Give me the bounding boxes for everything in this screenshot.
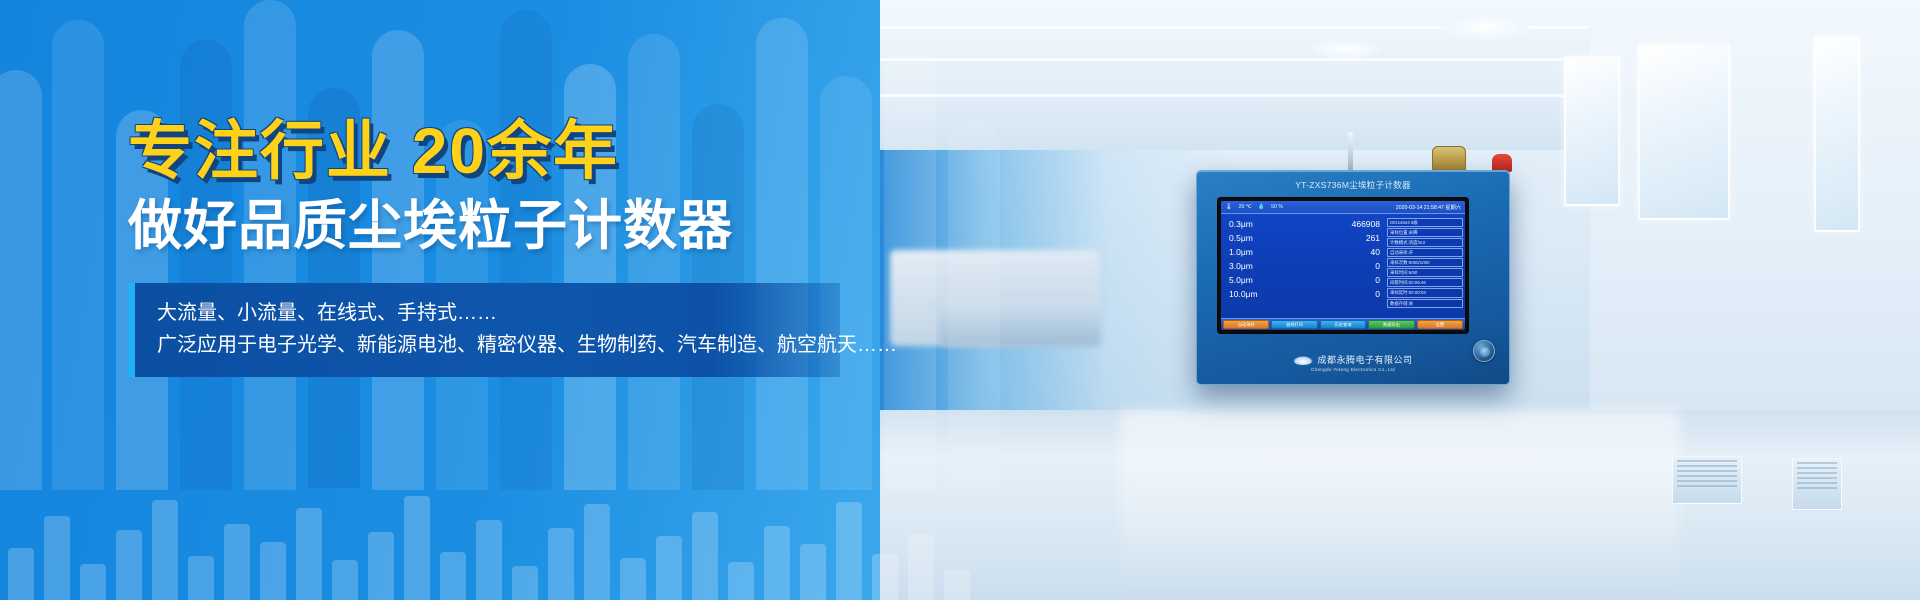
device-branding: 成都永腾电子有限公司 Chengdu Yoteng Electronics Co…: [1197, 353, 1509, 372]
bottom-equalizer: [0, 480, 1920, 600]
humidity-value: 50 %: [1271, 204, 1283, 210]
brand-cn-text: 成都永腾电子有限公司: [1317, 355, 1412, 365]
particle-count: 40: [1371, 247, 1380, 257]
info-row-sampling-location: 采样位置:永腾: [1387, 228, 1463, 237]
info-row-sample-time: 采样时间:6/60: [1387, 268, 1463, 277]
subtitle-line-1: 大流量、小流量、在线式、手持式……: [157, 297, 818, 329]
particle-count: 261: [1366, 233, 1380, 243]
temperature-value: 20 ℃: [1239, 204, 1252, 210]
banner-copy: 专注行业 20余年 做好品质尘埃粒子计数器 大流量、小流量、在线式、手持式…… …: [128, 118, 868, 377]
device-screen-bezel: 🌡 20 ℃ 💧 50 % 2020-03-14 21:58:47 星期六 0.…: [1217, 197, 1469, 334]
table-row: 1.0μm 40: [1225, 247, 1384, 261]
data-export-button[interactable]: 数据导出: [1368, 320, 1414, 329]
table-row: 3.0μm 0: [1225, 261, 1384, 275]
info-row-interval-time: 间歇时间:00:06:46: [1387, 278, 1463, 287]
info-row-sample-delay: 采样延时:00:00:03: [1387, 288, 1463, 297]
device-screen[interactable]: 🌡 20 ℃ 💧 50 % 2020-03-14 21:58:47 星期六 0.…: [1221, 201, 1465, 330]
yoteng-logo-icon: [1293, 356, 1313, 365]
subtitle-box: 大流量、小流量、在线式、手持式…… 广泛应用于电子光学、新能源电池、精密仪器、生…: [128, 283, 840, 378]
promo-banner: 专注行业 20余年 做好品质尘埃粒子计数器 大流量、小流量、在线式、手持式…… …: [0, 0, 1920, 600]
particle-size: 5.0μm: [1229, 275, 1253, 285]
settings-button[interactable]: 设置: [1417, 320, 1463, 329]
headline-secondary: 做好品质尘埃粒子计数器: [128, 197, 868, 256]
ceiling-lamp: [1440, 14, 1530, 40]
device-model-title: YT-ZXS736M尘埃粒子计数器: [1197, 179, 1509, 191]
brand-name-cn: 成都永腾电子有限公司: [1197, 353, 1509, 366]
info-row-count-mode: 计数模式:浓度/m3: [1387, 238, 1463, 247]
screen-status-bar: 🌡 20 ℃ 💧 50 % 2020-03-14 21:58:47 星期六: [1221, 201, 1465, 214]
particle-size: 0.3μm: [1229, 219, 1253, 229]
ceiling-lamp: [1310, 40, 1380, 58]
info-row-auto-sampling: 自动采样:开: [1387, 248, 1463, 257]
screen-toolbar: 自动采样 曲线打印 历史查询 数据导出 设置: [1221, 318, 1465, 330]
headline-primary: 专注行业 20余年: [128, 118, 868, 185]
particle-size: 0.5μm: [1229, 233, 1253, 243]
auto-sample-button[interactable]: 自动采样: [1223, 320, 1269, 329]
alarm-bell: [1432, 146, 1466, 172]
particle-size: 3.0μm: [1229, 261, 1253, 271]
particle-count: 466908: [1352, 219, 1380, 229]
brand-name-en: Chengdu Yoteng Electronics Co.,Ltd: [1197, 367, 1509, 372]
info-row-data-storage: 数据存储:关: [1387, 299, 1463, 308]
datetime-value: 2020-03-14 21:58:47 星期六: [1396, 204, 1461, 211]
curve-print-button[interactable]: 曲线打印: [1271, 320, 1317, 329]
table-row: 5.0μm 0: [1225, 275, 1384, 289]
wall-window: [1638, 44, 1730, 220]
info-row-sample-count: 采样次数:0050/1000: [1387, 258, 1463, 267]
particle-count: 0: [1375, 289, 1380, 299]
particle-count: 0: [1375, 261, 1380, 271]
power-knob[interactable]: [1473, 340, 1495, 362]
screen-main-area: 0.3μm 466908 0.5μm 261 1.0μm 40: [1221, 214, 1465, 318]
sampling-info-panel: ISO14644 5级 采样位置:永腾 计数模式:浓度/m3 自动采样:开 采样…: [1387, 217, 1463, 318]
particle-size: 10.0μm: [1229, 289, 1258, 299]
particle-size: 1.0μm: [1229, 247, 1253, 257]
table-row: 10.0μm 0: [1225, 289, 1384, 303]
info-row-iso-class: ISO14644 5级: [1387, 218, 1463, 227]
wall-window: [1814, 36, 1860, 232]
history-query-button[interactable]: 历史查询: [1320, 320, 1366, 329]
water-drop-icon: 💧: [1258, 204, 1265, 210]
thermometer-icon: 🌡: [1225, 204, 1233, 210]
particle-counter-device: YT-ZXS736M尘埃粒子计数器 🌡 20 ℃ 💧 50 % 2020-03-…: [1196, 170, 1510, 385]
particle-readings-table: 0.3μm 466908 0.5μm 261 1.0μm 40: [1225, 217, 1384, 318]
wall-window: [1564, 56, 1620, 206]
device-body: YT-ZXS736M尘埃粒子计数器 🌡 20 ℃ 💧 50 % 2020-03-…: [1196, 170, 1510, 385]
antenna: [1348, 132, 1353, 172]
subtitle-line-2: 广泛应用于电子光学、新能源电池、精密仪器、生物制药、汽车制造、航空航天……: [157, 329, 818, 361]
table-row: 0.5μm 261: [1225, 233, 1384, 247]
table-row: 0.3μm 466908: [1225, 219, 1384, 233]
particle-count: 0: [1375, 275, 1380, 285]
